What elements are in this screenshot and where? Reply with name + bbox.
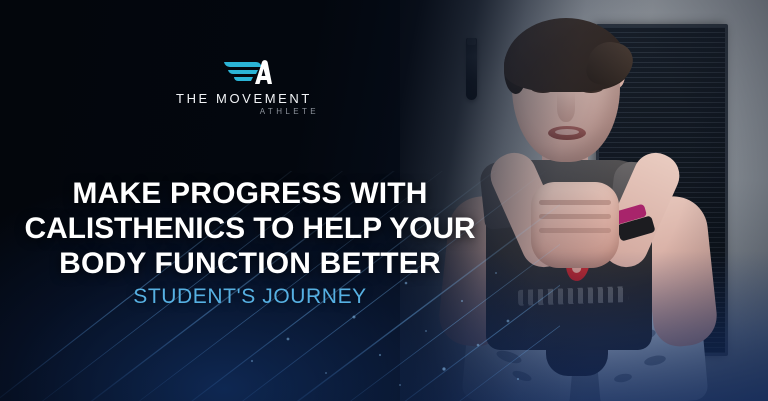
hero-banner: THE MOVEMENT ATHLETE MAKE PROGRESS WITH … xyxy=(0,0,768,401)
subtitle: STUDENT'S JOURNEY xyxy=(0,285,500,309)
logo-subtitle: ATHLETE xyxy=(260,108,319,116)
headline-line-2: CALISTHENICS TO HELP YOUR xyxy=(0,211,500,246)
brand-logo[interactable]: THE MOVEMENT ATHLETE xyxy=(168,56,320,118)
movement-athlete-wing-a-logo-icon xyxy=(222,56,274,88)
hair xyxy=(504,18,628,92)
page-title: MAKE PROGRESS WITH CALISTHENICS TO HELP … xyxy=(0,176,500,281)
headline-line-1: MAKE PROGRESS WITH xyxy=(0,176,500,211)
clasped-hands xyxy=(531,182,619,268)
logo-name: THE MOVEMENT xyxy=(168,92,320,105)
headline-line-3: BODY FUNCTION BETTER xyxy=(0,246,500,281)
mouth xyxy=(548,126,586,140)
nose xyxy=(557,92,575,122)
